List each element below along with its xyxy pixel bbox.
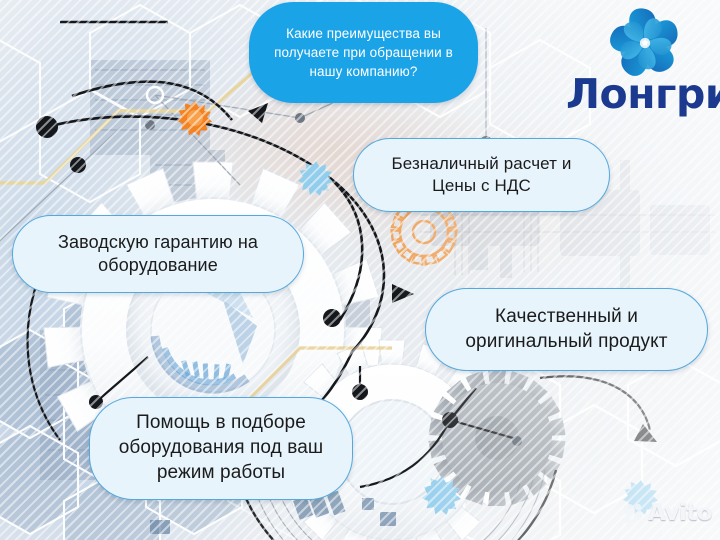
- company-name: Лонгри: [566, 70, 720, 118]
- bubble-factory-warranty: Заводскую гарантию на оборудование: [12, 215, 304, 293]
- bubble-quality-product: Качественный и оригинальный продукт: [425, 288, 708, 371]
- bubble-quality-product-text: Качественный и оригинальный продукт: [426, 305, 707, 354]
- company-logo: Лонгри: [566, 4, 720, 122]
- orange-starburst: [177, 101, 212, 136]
- blue-starburst: [298, 161, 333, 196]
- bubble-cashless-payment-text: Безналичный расчет и Цены с НДС: [354, 153, 609, 197]
- blue-starburst-2: [422, 476, 461, 515]
- avito-watermark: Avito: [622, 500, 712, 526]
- avito-watermark-text: Avito: [648, 500, 712, 526]
- avito-dots-icon: [622, 502, 644, 524]
- tan-polyline: [0, 60, 268, 183]
- bubble-factory-warranty-text: Заводскую гарантию на оборудование: [13, 231, 303, 278]
- bubble-question-text: Какие преимущества вы получаете при обра…: [250, 24, 477, 81]
- bubble-equipment-help: Помощь в подборе оборудования под ваш ре…: [89, 397, 353, 500]
- bubble-question: Какие преимущества вы получаете при обра…: [249, 2, 478, 103]
- gray-gear: [428, 370, 565, 506]
- bubble-equipment-help-text: Помощь в подборе оборудования под ваш ре…: [90, 411, 352, 485]
- promo-banner: Какие преимущества вы получаете при обра…: [0, 0, 720, 540]
- bubble-cashless-payment: Безналичный расчет и Цены с НДС: [353, 138, 610, 212]
- pinwheel-flower-icon: [608, 6, 682, 80]
